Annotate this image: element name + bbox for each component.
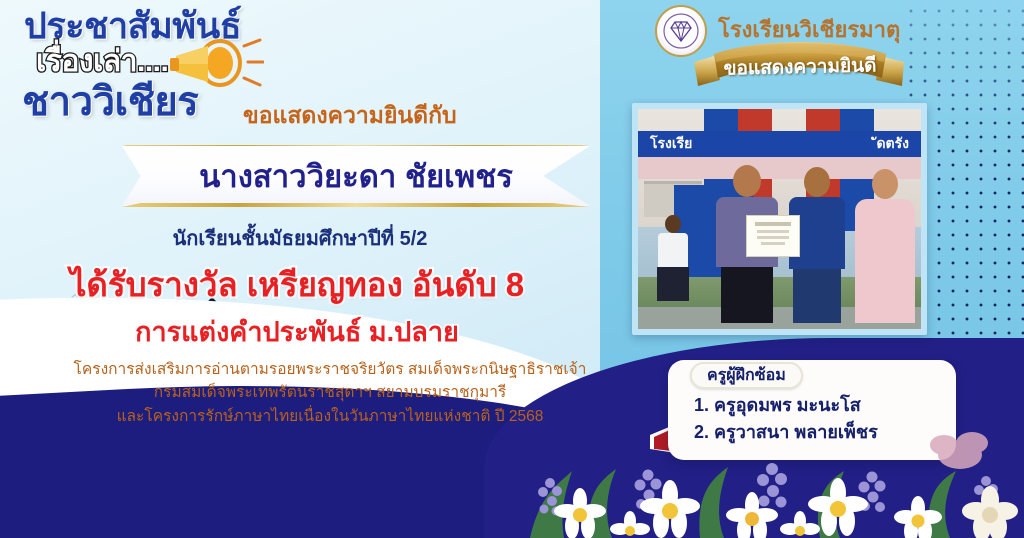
header-line-2: เรื่องเล่า.... xyxy=(36,47,168,77)
photo-person-guest xyxy=(854,169,916,323)
congratulations-to-label: ขอแสดงความยินดีกับ xyxy=(243,104,457,127)
award-photo: โรงเรีย ัดตรัง xyxy=(638,109,921,329)
project-description: โครงการส่งเสริมการอ่านตามรอยพระราชจริยวั… xyxy=(40,358,620,428)
student-grade: นักเรียนชั้นมัธยมศึกษาปีที่ 5/2 xyxy=(0,222,600,254)
photo-building-sign: โรงเรีย ัดตรัง xyxy=(638,133,921,155)
flower-icon xyxy=(610,511,650,536)
award-photo-frame: โรงเรีย ัดตรัง xyxy=(632,103,927,335)
sign-right-text: ัดตรัง xyxy=(876,133,909,155)
description-line: โครงการส่งเสริมการอ่านตามรอยพระราชจริยวั… xyxy=(40,358,620,381)
award-prize-text: ได้รับรางวัล เหรียญทอง อันดับ 8 xyxy=(0,258,594,311)
student-name-ribbon: นางสาววิยะดา ชัยเพชร xyxy=(122,146,590,206)
award-category-text: การแต่งคำประพันธ์ ม.ปลาย xyxy=(0,310,594,353)
sign-left-text: โรงเรีย xyxy=(650,133,692,155)
list-item: 1. ครูอุดมพร มะนะโส xyxy=(694,392,944,419)
student-name: นางสาววิยะดา ชัยเพชร xyxy=(199,161,513,192)
photo-person-student-background xyxy=(656,215,690,301)
flower-icon xyxy=(962,486,1018,538)
ribbon-gold-line-bottom xyxy=(122,203,590,207)
description-line: กรมสมเด็จพระเทพรัตนราชสุดาฯ สยามบรมราชกุ… xyxy=(40,381,620,404)
gold-ribbon-text: ขอแสดงความยินดี xyxy=(690,50,911,85)
certificate xyxy=(746,215,800,257)
congratulation-poster: ประชาสัมพันธ์ เรื่องเล่า.... ชาววิเชียร … xyxy=(0,0,1024,538)
pink-flower-icon xyxy=(930,432,988,469)
floral-decoration xyxy=(520,423,1024,538)
megaphone-icon xyxy=(168,38,264,92)
teachers-badge: ครูผู้ฝึกซ้อม xyxy=(690,362,803,389)
flower-icon xyxy=(780,511,820,536)
flower-icon xyxy=(726,492,778,538)
